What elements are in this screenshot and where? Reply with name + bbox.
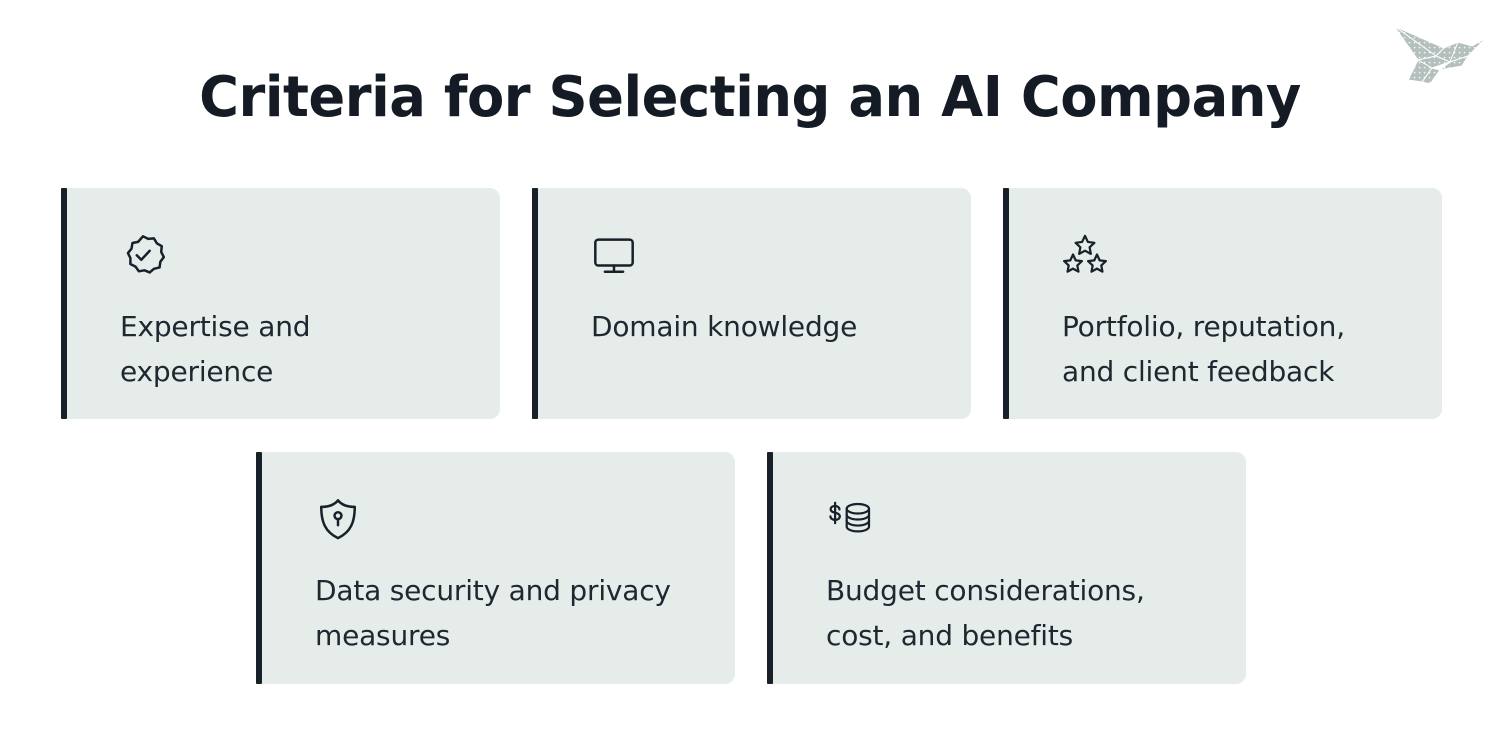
accent-bar	[532, 188, 538, 419]
card-label: Budget considerations, cost, and benefit…	[826, 568, 1186, 658]
card-content: Portfolio, reputation, and client feedba…	[1003, 188, 1442, 394]
card-label: Portfolio, reputation, and client feedba…	[1062, 304, 1392, 394]
slide-root: Criteria for Selecting an AI Company Exp…	[0, 0, 1500, 748]
criteria-card-domain-knowledge[interactable]: Domain knowledge	[532, 188, 971, 419]
card-row-bottom: Data security and privacy measures Bu	[256, 452, 1246, 684]
card-label: Expertise and experience	[120, 304, 450, 394]
card-content: Budget considerations, cost, and benefit…	[767, 452, 1246, 658]
page-title: Criteria for Selecting an AI Company	[23, 62, 1478, 134]
criteria-card-portfolio[interactable]: Portfolio, reputation, and client feedba…	[1003, 188, 1442, 419]
card-row-top: Expertise and experience Domain knowledg…	[61, 188, 1442, 419]
criteria-card-data-security[interactable]: Data security and privacy measures	[256, 452, 735, 684]
three-stars-icon	[1062, 232, 1108, 278]
dollar-coin-stack-icon	[826, 496, 872, 542]
accent-bar	[256, 452, 262, 684]
accent-bar	[767, 452, 773, 684]
accent-bar	[1003, 188, 1009, 419]
accent-bar	[61, 188, 67, 419]
monitor-icon	[591, 232, 637, 278]
card-label: Domain knowledge	[591, 304, 921, 349]
card-content: Expertise and experience	[61, 188, 500, 394]
shield-keyhole-icon	[315, 496, 361, 542]
badge-check-icon	[120, 232, 166, 278]
criteria-card-budget[interactable]: Budget considerations, cost, and benefit…	[767, 452, 1246, 684]
card-label: Data security and privacy measures	[315, 568, 675, 658]
criteria-card-expertise[interactable]: Expertise and experience	[61, 188, 500, 419]
card-content: Data security and privacy measures	[256, 452, 735, 658]
card-content: Domain knowledge	[532, 188, 971, 349]
